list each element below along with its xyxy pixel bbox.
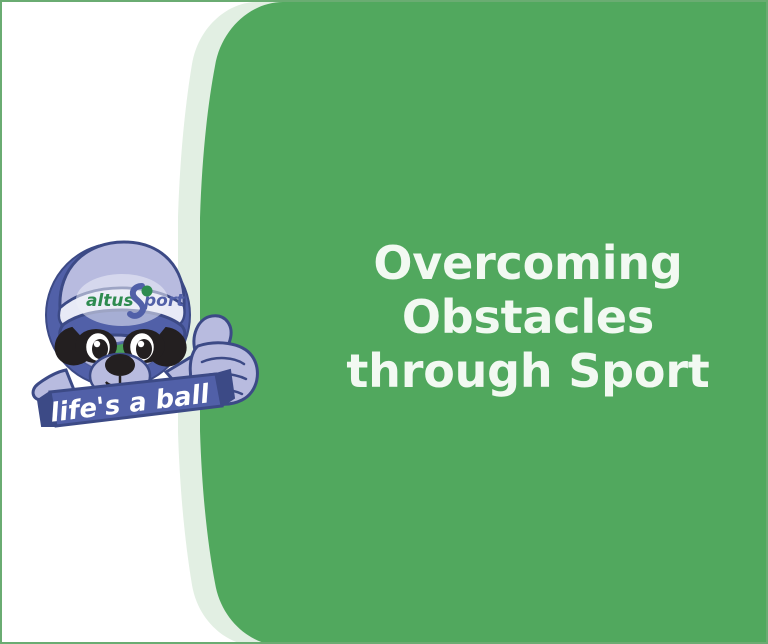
mascot-brand-sport: port xyxy=(143,291,185,311)
slide-title: Overcoming Obstacles through Sport xyxy=(302,240,754,394)
title-line-1: Overcoming xyxy=(302,240,754,286)
altus-sport-mascot-logo: altus port xyxy=(20,220,268,435)
slide-canvas: altus port xyxy=(0,0,768,644)
mascot-brand-altus: altus xyxy=(86,291,134,311)
title-line-3: through Sport xyxy=(302,348,754,394)
title-line-2: Obstacles xyxy=(302,294,754,340)
